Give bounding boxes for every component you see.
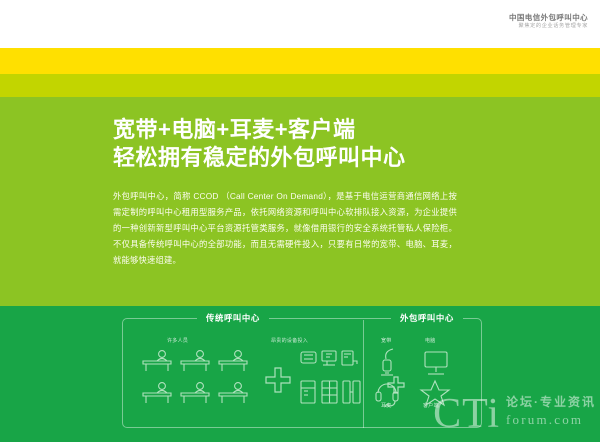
panel-title-outsourced: 外包呼叫中心	[391, 312, 463, 324]
headline-line-1: 宽带+电脑+耳麦+客户端	[113, 117, 356, 142]
label-broadband: 宽带	[381, 337, 392, 344]
equipment-icons-group	[299, 347, 361, 409]
band-lime	[0, 74, 600, 97]
label-equipment: 昂贵的设备投入	[271, 337, 308, 344]
staff-desk-icon	[219, 383, 247, 403]
poster-root: 中国电信外包呼叫中心 聚焦定的企业话务管理专家 宽带+电脑+耳麦+客户端 轻松拥…	[0, 0, 600, 442]
page-title: 宽带+电脑+耳麦+客户端 轻松拥有稳定的外包呼叫中心	[113, 116, 473, 172]
broadband-modem-icon	[381, 349, 393, 375]
hero-body-text: 外包呼叫中心，简称 CCOD （Call Center On Demand），是…	[113, 189, 457, 269]
staff-desk-icon	[143, 351, 171, 371]
rack-icon	[322, 381, 337, 403]
headset-icon	[376, 384, 398, 407]
switch-icon	[343, 381, 360, 403]
phone-icon	[301, 352, 316, 363]
computer-monitor-icon	[425, 352, 447, 374]
cabinet-icon	[301, 381, 315, 403]
monitor-icon	[322, 351, 336, 365]
comparison-panel: 传统呼叫中心 外包呼叫中心 许多人员 昂贵的设备投入 宽带 电脑 耳麦 客户端	[122, 318, 482, 428]
panel-title-traditional: 传统呼叫中心	[197, 312, 269, 324]
staff-desk-icon	[219, 351, 247, 371]
staff-desk-icon	[143, 383, 171, 403]
hero-section: 宽带+电脑+耳麦+客户端 轻松拥有稳定的外包呼叫中心 外包呼叫中心，简称 CCO…	[113, 116, 473, 269]
brand-tagline: 聚焦定的企业话务管理专家	[509, 23, 588, 30]
label-staff: 许多人员	[167, 337, 188, 344]
brand-block: 中国电信外包呼叫中心 聚焦定的企业话务管理专家	[509, 13, 588, 30]
band-yellow	[0, 48, 600, 74]
label-computer: 电脑	[425, 337, 436, 344]
staff-desk-icons-group	[141, 347, 259, 409]
brand-name: 中国电信外包呼叫中心	[509, 13, 588, 22]
outsourced-icons-group-bottom	[373, 377, 465, 407]
headline-line-2: 轻松拥有稳定的外包呼叫中心	[113, 144, 473, 172]
staff-desk-icon	[181, 351, 209, 371]
client-star-icon	[421, 381, 449, 405]
staff-desk-icon	[181, 383, 209, 403]
plus-icon-left	[265, 367, 291, 393]
panel-divider	[363, 320, 364, 428]
server-tower-icon	[342, 351, 357, 365]
page-header: 中国电信外包呼叫中心 聚焦定的企业话务管理专家	[0, 0, 600, 48]
